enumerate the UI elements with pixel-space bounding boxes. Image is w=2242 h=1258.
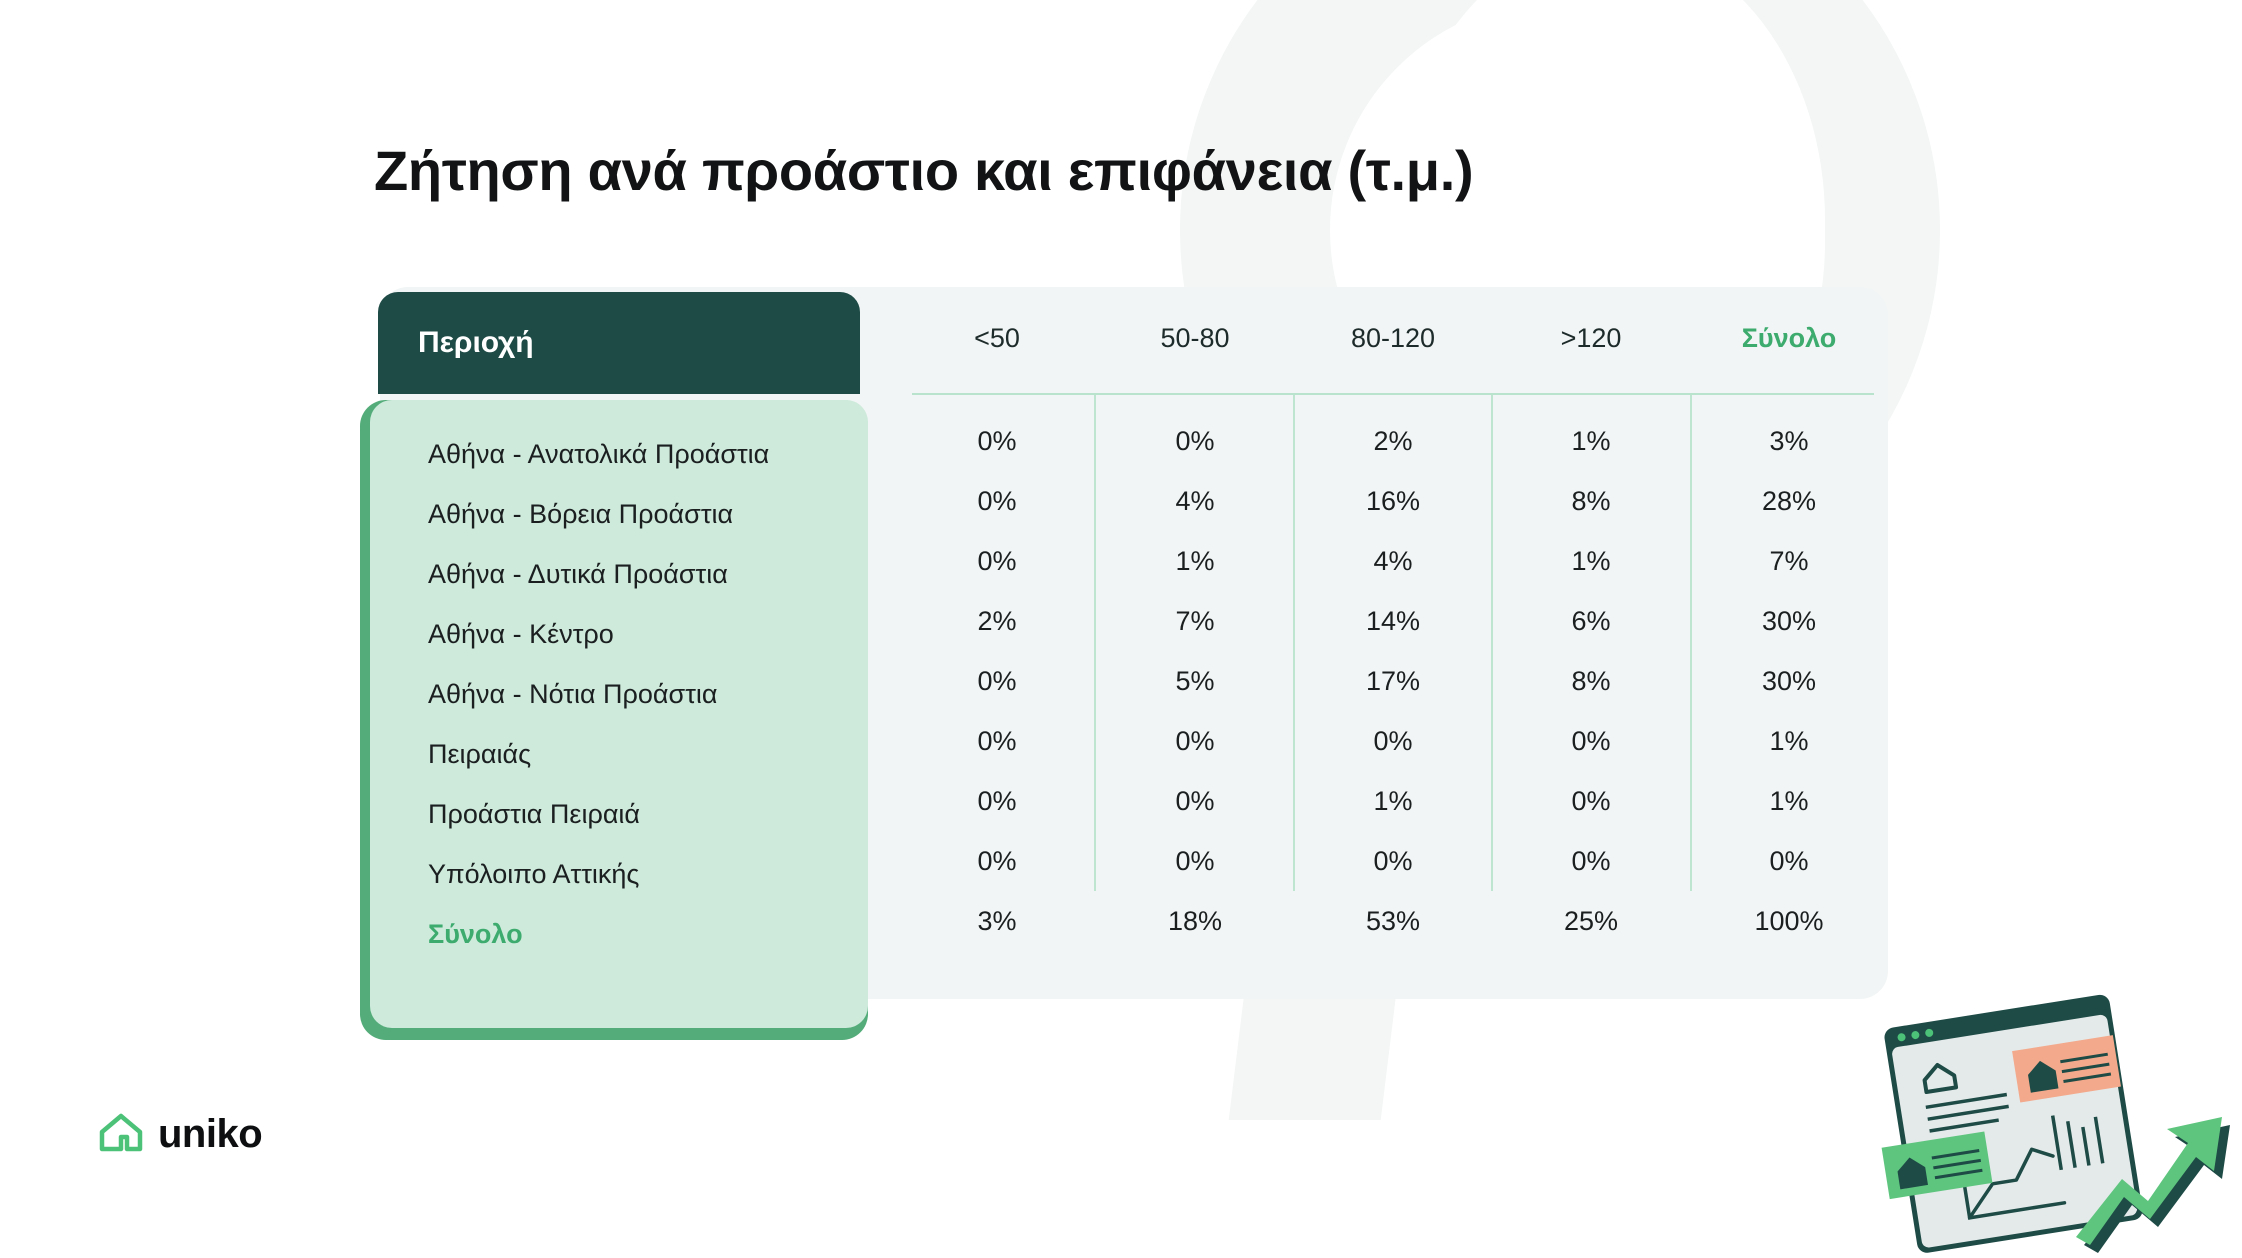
cell-r2-c4: 8% xyxy=(1492,486,1690,517)
dashboard-illustration xyxy=(1870,965,2242,1258)
table-row: 2%7%14%6%30% xyxy=(898,591,1888,651)
region-label-3: Αθήνα - Δυτικά Προάστια xyxy=(428,544,728,604)
cell-r4-c3: 14% xyxy=(1294,606,1492,637)
cell-r6-c3: 0% xyxy=(1294,726,1492,757)
region-label-1: Αθήνα - Ανατολικά Προάστια xyxy=(428,424,769,484)
table-row: 3%18%53%25%100% xyxy=(898,891,1888,951)
region-label-9: Σύνολο xyxy=(428,904,523,964)
cell-r9-c4: 25% xyxy=(1492,906,1690,937)
cell-r7-c1: 0% xyxy=(898,786,1096,817)
cell-r4-c2: 7% xyxy=(1096,606,1294,637)
cell-r2-c1: 0% xyxy=(898,486,1096,517)
table-body: 0%0%2%1%3%0%4%16%8%28%0%1%4%1%7%2%7%14%6… xyxy=(898,411,1888,951)
region-label-8: Υπόλοιπο Αττικής xyxy=(428,844,639,904)
table-row: 0%0%2%1%3% xyxy=(898,411,1888,471)
data-table: <5050-8080-120>120Σύνολο 0%0%2%1%3%0%4%1… xyxy=(898,287,1888,999)
region-header-label: Περιοχή xyxy=(418,326,534,360)
cell-r5-c4: 8% xyxy=(1492,666,1690,697)
brand-logo: uniko xyxy=(98,1112,262,1157)
column-header-1: <50 xyxy=(898,287,1096,389)
cell-r6-c2: 0% xyxy=(1096,726,1294,757)
cell-r5-c3: 17% xyxy=(1294,666,1492,697)
cell-r4-c1: 2% xyxy=(898,606,1096,637)
cell-r3-c4: 1% xyxy=(1492,546,1690,577)
cell-r5-c1: 0% xyxy=(898,666,1096,697)
brand-name: uniko xyxy=(158,1112,262,1157)
cell-r7-c5: 1% xyxy=(1690,786,1888,817)
column-header-3: 80-120 xyxy=(1294,287,1492,389)
cell-r2-c2: 4% xyxy=(1096,486,1294,517)
cell-r8-c2: 0% xyxy=(1096,846,1294,877)
table-row: 0%5%17%8%30% xyxy=(898,651,1888,711)
cell-r6-c5: 1% xyxy=(1690,726,1888,757)
cell-r5-c2: 5% xyxy=(1096,666,1294,697)
page-title: Ζήτηση ανά προάστιο και επιφάνεια (τ.μ.) xyxy=(374,138,1473,203)
region-panel-border: Αθήνα - Ανατολικά ΠροάστιαΑθήνα - Βόρεια… xyxy=(360,400,868,1040)
cell-r8-c4: 0% xyxy=(1492,846,1690,877)
column-header-5: Σύνολο xyxy=(1690,287,1888,389)
region-label-7: Προάστια Πειραιά xyxy=(428,784,640,844)
table-header-row: <5050-8080-120>120Σύνολο xyxy=(898,287,1888,389)
region-label-2: Αθήνα - Βόρεια Προάστια xyxy=(428,484,733,544)
cell-r2-c3: 16% xyxy=(1294,486,1492,517)
table-row: 0%0%0%0%1% xyxy=(898,711,1888,771)
table-row: 0%0%1%0%1% xyxy=(898,771,1888,831)
cell-r1-c2: 0% xyxy=(1096,426,1294,457)
cell-r3-c1: 0% xyxy=(898,546,1096,577)
cell-r3-c3: 4% xyxy=(1294,546,1492,577)
region-label-5: Αθήνα - Νότια Προάστια xyxy=(428,664,717,724)
cell-r6-c4: 0% xyxy=(1492,726,1690,757)
cell-r8-c3: 0% xyxy=(1294,846,1492,877)
cell-r9-c2: 18% xyxy=(1096,906,1294,937)
region-column-header: Περιοχή xyxy=(378,292,860,394)
cell-r9-c5: 100% xyxy=(1690,906,1888,937)
cell-r1-c4: 1% xyxy=(1492,426,1690,457)
cell-r3-c5: 7% xyxy=(1690,546,1888,577)
table-row: 0%4%16%8%28% xyxy=(898,471,1888,531)
house-icon xyxy=(98,1112,144,1157)
cell-r1-c5: 3% xyxy=(1690,426,1888,457)
cell-r1-c3: 2% xyxy=(1294,426,1492,457)
cell-r4-c4: 6% xyxy=(1492,606,1690,637)
cell-r7-c3: 1% xyxy=(1294,786,1492,817)
cell-r6-c1: 0% xyxy=(898,726,1096,757)
slide-canvas: Ζήτηση ανά προάστιο και επιφάνεια (τ.μ.)… xyxy=(0,0,2242,1258)
cell-r8-c1: 0% xyxy=(898,846,1096,877)
cell-r7-c2: 0% xyxy=(1096,786,1294,817)
cell-r1-c1: 0% xyxy=(898,426,1096,457)
table-row: 0%0%0%0%0% xyxy=(898,831,1888,891)
column-header-2: 50-80 xyxy=(1096,287,1294,389)
cell-r9-c3: 53% xyxy=(1294,906,1492,937)
region-label-6: Πειραιάς xyxy=(428,724,531,784)
header-divider xyxy=(912,393,1874,395)
cell-r8-c5: 0% xyxy=(1690,846,1888,877)
cell-r4-c5: 30% xyxy=(1690,606,1888,637)
region-label-4: Αθήνα - Κέντρο xyxy=(428,604,614,664)
cell-r3-c2: 1% xyxy=(1096,546,1294,577)
cell-r9-c1: 3% xyxy=(898,906,1096,937)
table-row: 0%1%4%1%7% xyxy=(898,531,1888,591)
cell-r5-c5: 30% xyxy=(1690,666,1888,697)
cell-r7-c4: 0% xyxy=(1492,786,1690,817)
region-panel: Αθήνα - Ανατολικά ΠροάστιαΑθήνα - Βόρεια… xyxy=(370,400,868,1028)
column-header-4: >120 xyxy=(1492,287,1690,389)
cell-r2-c5: 28% xyxy=(1690,486,1888,517)
